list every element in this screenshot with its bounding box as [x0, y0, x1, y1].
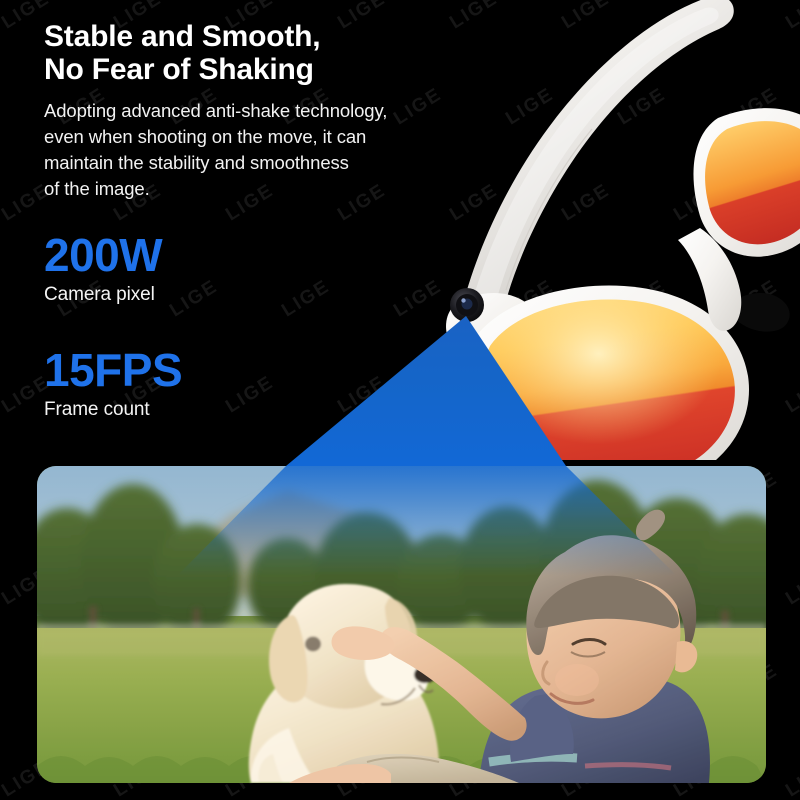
watermark-text: LIGE: [670, 180, 726, 226]
spec-label: Camera pixel: [44, 282, 162, 308]
watermark-text: LIGE: [278, 276, 334, 322]
nose-bridge: [678, 228, 790, 332]
spec-frame-count: 15FPS Frame count: [44, 345, 182, 423]
spec-label: Frame count: [44, 397, 182, 423]
right-lens-group: [693, 108, 800, 257]
sample-photo: [37, 466, 766, 783]
watermark-text: LIGE: [670, 0, 726, 34]
temple-arm: [460, 0, 734, 331]
watermark-text: LIGE: [726, 276, 782, 322]
watermark-text: LIGE: [558, 0, 614, 34]
watermark-text: LIGE: [222, 372, 278, 418]
headline-line-1: Stable and Smooth,: [44, 20, 320, 53]
body-paragraph: Adopting advanced anti-shake technology,…: [44, 98, 464, 202]
page-title: Stable and Smooth, No Fear of Shaking: [44, 20, 484, 86]
hinge-block: [446, 293, 540, 366]
watermark-text: LIGE: [782, 756, 800, 800]
watermark-text: LIGE: [782, 180, 800, 226]
watermark-text: LIGE: [782, 0, 800, 34]
camera-lens-glint: [461, 298, 465, 302]
spec-value: 200W: [44, 230, 162, 280]
product-marketing-banner: LIGELIGELIGELIGELIGELIGELIGELIGELIGELIGE…: [0, 0, 800, 800]
watermark-text: LIGE: [390, 276, 446, 322]
watermark-text: LIGE: [558, 372, 614, 418]
watermark-text: LIGE: [614, 84, 670, 130]
watermark-text: LIGE: [614, 276, 670, 322]
watermark-text: LIGE: [782, 564, 800, 610]
body-line-2: even when shooting on the move, it can: [44, 124, 464, 150]
headline-line-2: No Fear of Shaking: [44, 53, 314, 86]
watermark-text: LIGE: [670, 372, 726, 418]
watermark-text: LIGE: [446, 372, 502, 418]
body-line-3: maintain the stability and smoothness: [44, 150, 464, 176]
watermark-text: LIGE: [502, 276, 558, 322]
watermark-text: LIGE: [782, 372, 800, 418]
body-line-4: of the image.: [44, 176, 464, 202]
watermark-text: LIGE: [558, 180, 614, 226]
body-line-1: Adopting advanced anti-shake technology,: [44, 98, 464, 124]
watermark-text: LIGE: [502, 84, 558, 130]
watermark-text: LIGE: [726, 84, 782, 130]
watermark-text: LIGE: [334, 372, 390, 418]
camera-module: [450, 288, 484, 322]
spec-camera-pixel: 200W Camera pixel: [44, 230, 162, 308]
left-lens-group: [468, 286, 749, 460]
spec-value: 15FPS: [44, 345, 182, 395]
copy-block: Stable and Smooth, No Fear of Shaking Ad…: [44, 20, 484, 202]
watermark-text: LIGE: [166, 276, 222, 322]
